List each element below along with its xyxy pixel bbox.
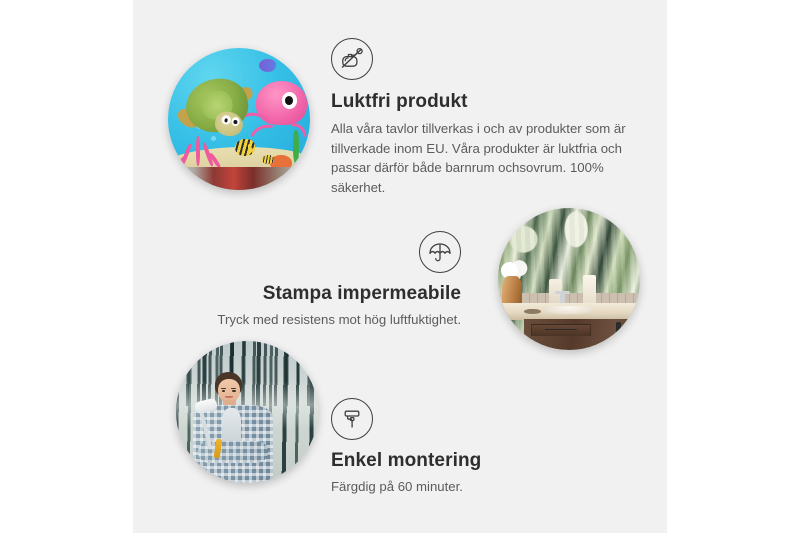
feature-block-assembly: Enkel montering Färgdig på 60 minuter. (331, 398, 591, 497)
woman-painter (193, 372, 273, 483)
room-floor-strip (168, 167, 310, 190)
smile (225, 396, 233, 398)
no-fragrance-icon (331, 38, 373, 80)
blue-fish-icon (259, 59, 276, 72)
feature-title: Luktfri produkt (331, 91, 627, 113)
eye (232, 390, 236, 392)
icon-row (215, 231, 461, 273)
painter-forest-circle-image (176, 341, 318, 483)
turtle-eye (221, 115, 231, 125)
inner-shirt (222, 408, 241, 441)
paint-roller-icon (331, 398, 373, 440)
feature-title: Enkel montering (331, 450, 591, 472)
eye (222, 390, 226, 392)
feature-description: Alla våra tavlor tillverkas i och av pro… (331, 119, 627, 197)
feature-description: Färgdig på 60 minuter. (331, 477, 591, 497)
seaweed-icon (293, 130, 299, 164)
turtle-eye (230, 117, 240, 127)
feature-block-waterproof: Stampa impermeabile Tryck med resistens … (215, 231, 461, 330)
painter-scene (176, 341, 318, 483)
feature-description: Tryck med resistens mot hög luftfuktighe… (215, 310, 461, 330)
umbrella-icon (419, 231, 461, 273)
cabinet-handle (616, 322, 621, 343)
eyebrow (231, 388, 236, 389)
underwater-scene (168, 48, 310, 190)
underwater-cartoon-circle-image (168, 48, 310, 190)
cabinet-drawer (531, 324, 590, 337)
feature-block-odourless: Luktfri produkt Alla våra tavlor tillver… (331, 38, 627, 197)
vanity-cabinet (524, 319, 640, 350)
octopus-eye (282, 92, 298, 109)
eyebrow (221, 388, 226, 389)
promo-infographic: Luktfri produkt Alla våra tavlor tillver… (0, 0, 800, 533)
yellow-fish-icon (235, 139, 255, 156)
bathroom-botanical-circle-image (498, 208, 640, 350)
bathroom-scene (498, 208, 640, 350)
feature-title: Stampa impermeabile (215, 283, 461, 305)
